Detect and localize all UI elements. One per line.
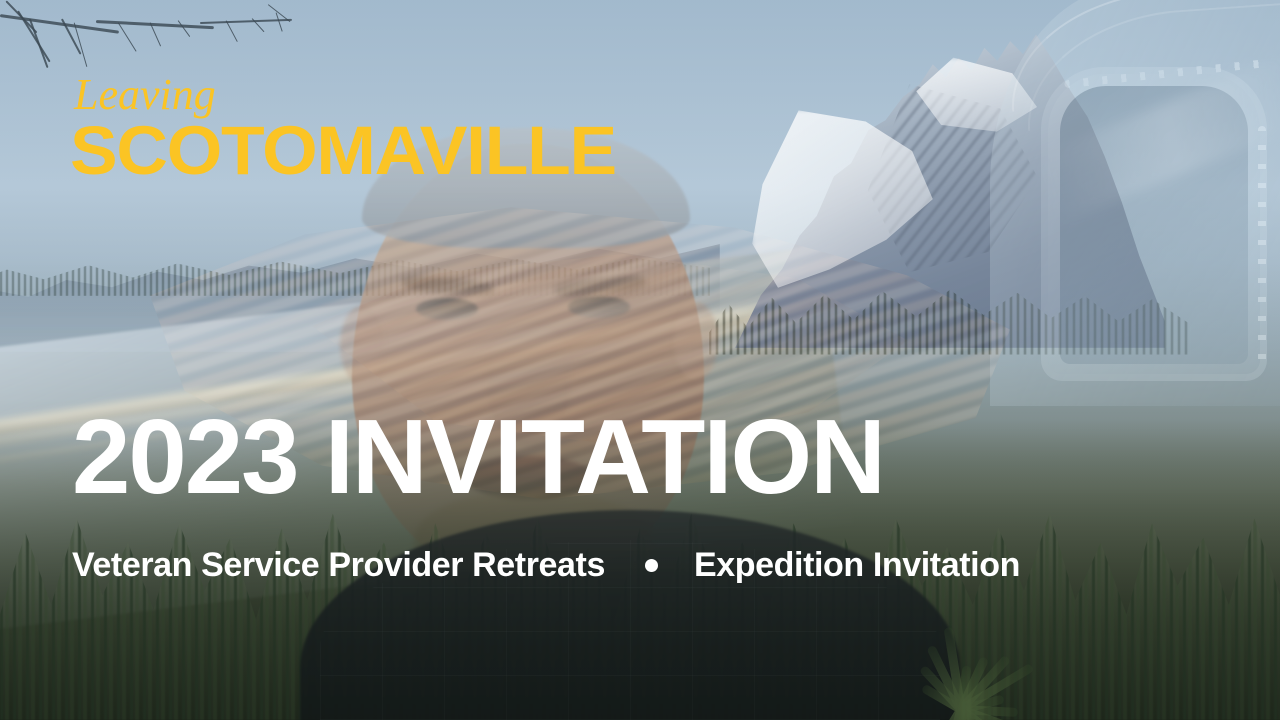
- brand-eyebrow: Leaving: [74, 73, 216, 117]
- subtitle-row: Veteran Service Provider Retreats Expedi…: [72, 548, 1020, 582]
- brand-title: SCOTOMAVILLE: [70, 116, 616, 185]
- bullet-separator-icon: [645, 559, 658, 572]
- video-title-card: Leaving SCOTOMAVILLE 2023 INVITATION Vet…: [0, 0, 1280, 720]
- window-glass: [1060, 86, 1248, 364]
- aircraft-window: [990, 0, 1280, 406]
- subtitle-left: Veteran Service Provider Retreats: [72, 548, 605, 582]
- window-frame: [1048, 74, 1260, 374]
- subtitle-right: Expedition Invitation: [694, 548, 1020, 582]
- window-rivet-column: [1258, 126, 1266, 364]
- palm-plant: [905, 590, 1035, 720]
- page-title: 2023 INVITATION: [72, 404, 884, 510]
